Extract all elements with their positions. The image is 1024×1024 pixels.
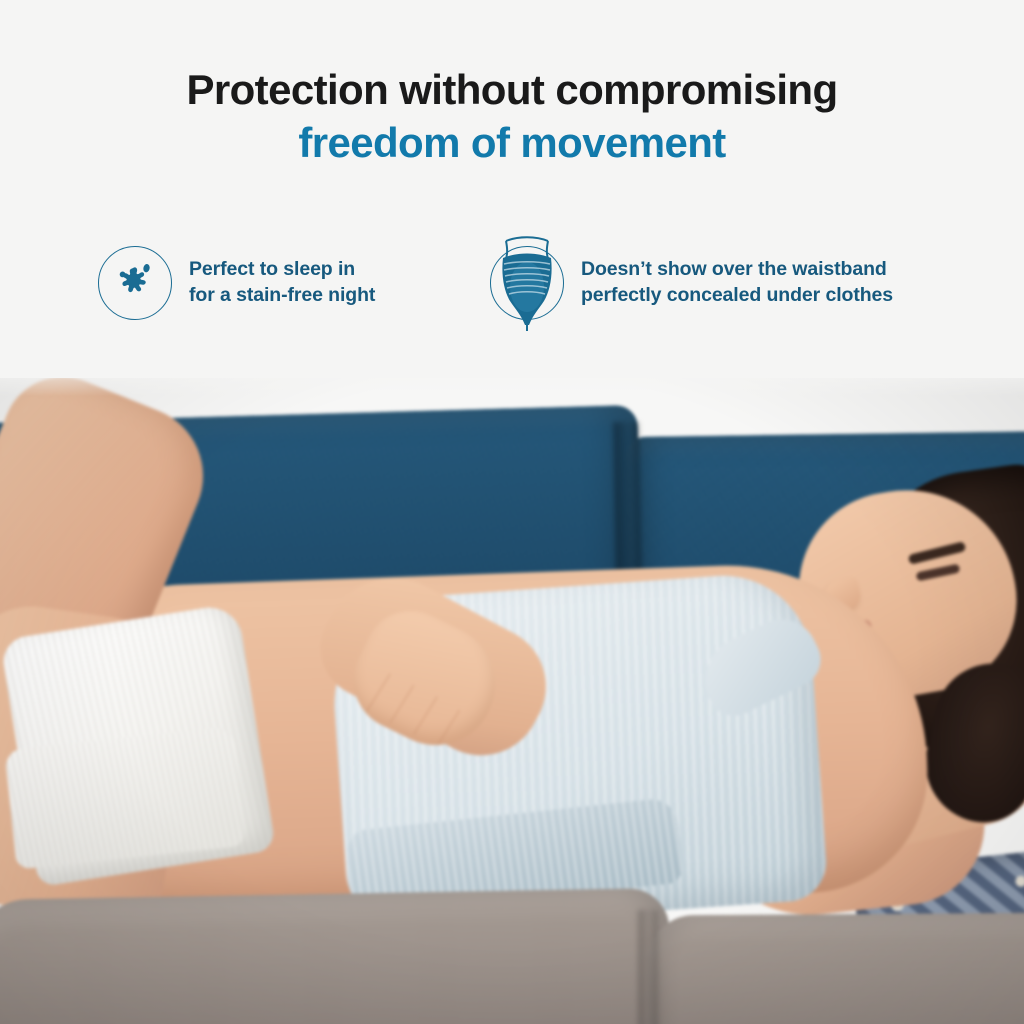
absorbent-underwear-band [4, 726, 245, 869]
product-ad: Protection without compromising freedom … [0, 0, 1024, 1024]
feature-list: Perfect to sleep in for a stain-free nig… [0, 240, 1024, 340]
feature-discreet-line-2: perfectly concealed under clothes [581, 283, 893, 309]
splash-drop-icon [98, 246, 172, 320]
couch-seat-right [647, 913, 1024, 1024]
feature-sleep-line-2: for a stain-free night [189, 283, 375, 309]
feature-text-sleep: Perfect to sleep in for a stain-free nig… [189, 257, 375, 309]
feature-text-discreet: Doesn’t show over the waistband perfectl… [581, 257, 893, 309]
headline: Protection without compromising freedom … [0, 66, 1024, 167]
feature-discreet-line-1: Doesn’t show over the waistband [581, 257, 893, 283]
photo-scene [0, 362, 1024, 1024]
feature-sleep-line-1: Perfect to sleep in [189, 257, 375, 283]
headline-line-2: freedom of movement [0, 119, 1024, 168]
seat-seam [638, 910, 658, 1024]
feature-item-discreet: Doesn’t show over the waistband perfectl… [490, 246, 893, 320]
lifestyle-photo [0, 362, 1024, 1024]
headline-line-1: Protection without compromising [0, 66, 1024, 115]
absorbent-underwear-icon [490, 246, 564, 320]
feature-item-sleep: Perfect to sleep in for a stain-free nig… [98, 246, 375, 320]
couch-seat-left [0, 888, 671, 1024]
headline-panel: Protection without compromising freedom … [0, 0, 1024, 378]
